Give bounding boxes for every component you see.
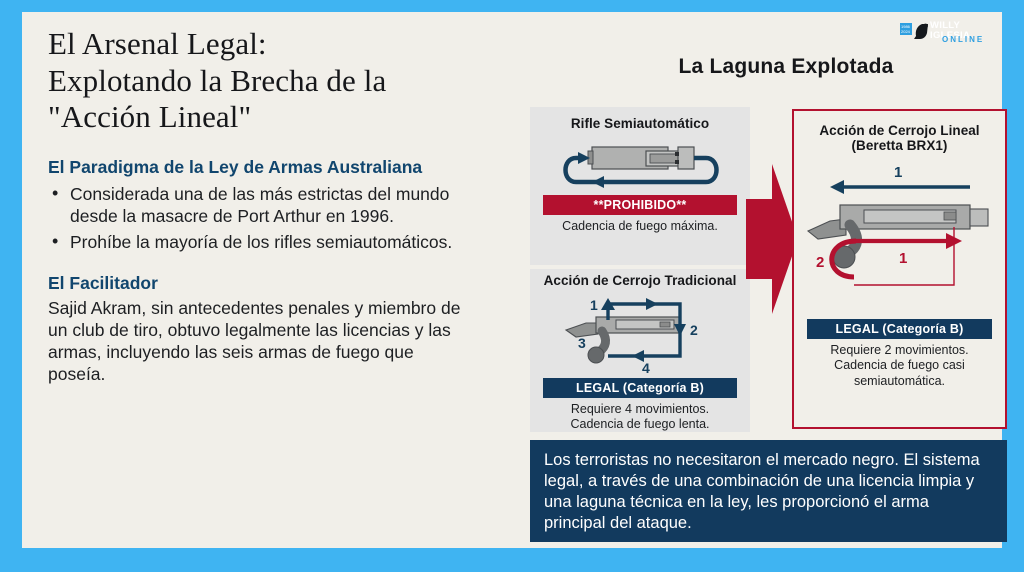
panel-divider [530,265,750,269]
caption-line: Requiere 4 movimientos. [530,402,750,417]
section-heading-facilitador: El Facilitador [48,273,468,294]
panel-title-main: Acción de Cerrojo Lineal [819,123,979,138]
svg-text:1: 1 [899,250,907,267]
svg-text:3: 3 [578,335,586,351]
svg-text:2: 2 [690,322,698,338]
caption-line: Cadencia de fuego casi [794,358,1005,373]
title-line-2: Explotando la Brecha de la [48,63,468,100]
caption-line: Requiere 2 movimientos. [794,343,1005,358]
status-badge-legal-traditional: LEGAL (Categoría B) [543,378,737,398]
title-line-3: "Acción Lineal" [48,99,468,136]
panel-semiauto: Rifle Semiautomático **PROHIBIDO** [530,116,750,234]
panel-bolt-traditional-title: Acción de Cerrojo Tradicional [530,273,750,288]
left-column: El Arsenal Legal: Explotando la Brecha d… [48,26,468,526]
right-section-heading: La Laguna Explotada [616,55,956,79]
slide-canvas: 1986 2024 WILLY IGLESIA ONLINE El Arsena… [22,12,1002,548]
panel-bolt-traditional: Acción de Cerrojo Tradicional 1 [530,273,750,433]
panel-semiauto-caption: Cadencia de fuego máxima. [530,219,750,234]
svg-text:2: 2 [816,254,824,271]
semiauto-cycle-diagram [530,133,750,195]
panel-bolt-traditional-caption: Requiere 4 movimientos. Cadencia de fueg… [530,402,750,433]
caption-line: Cadencia de fuego lenta. [530,417,750,432]
svg-text:1: 1 [894,164,902,181]
status-badge-legal-linear: LEGAL (Categoría B) [807,319,992,339]
traditional-bolt-action-diagram: 1 2 3 4 [530,290,750,378]
comparison-panel-group: Rifle Semiautomático **PROHIBIDO** [530,107,750,432]
linear-bolt-action-diagram: 1 1 2 [794,155,1005,315]
paradigma-bullet-list: Considerada una de las más estrictas del… [48,183,468,253]
list-item: Prohíbe la mayoría de los rifles semiaut… [48,231,468,253]
logo-sub: ONLINE [942,35,984,44]
conclusion-box: Los terroristas no necesitaron el mercad… [530,440,1007,542]
page-title: El Arsenal Legal: Explotando la Brecha d… [48,26,468,136]
red-right-arrow [746,164,798,314]
panel-semiauto-title: Rifle Semiautomático [530,116,750,131]
list-item: Considerada una de las más estrictas del… [48,183,468,227]
facilitador-body-text: Sajid Akram, sin antecedentes penales y … [48,297,468,385]
panel-title-sub: (Beretta BRX1) [794,138,1005,153]
caption-line: Cadencia de fuego máxima. [530,219,750,234]
panel-bolt-linear-title: Acción de Cerrojo Lineal (Beretta BRX1) [794,123,1005,153]
caption-line: semiautomática. [794,374,1005,389]
section-heading-paradigma: El Paradigma de la Ley de Armas Australi… [48,157,468,178]
svg-text:4: 4 [642,360,650,376]
status-badge-prohibido: **PROHIBIDO** [543,195,737,215]
svg-text:1: 1 [590,297,598,313]
svg-text:2024: 2024 [901,29,911,34]
panel-bolt-linear: Acción de Cerrojo Lineal (Beretta BRX1) … [792,109,1007,429]
title-line-1: El Arsenal Legal: [48,26,468,63]
panel-bolt-linear-caption: Requiere 2 movimientos. Cadencia de fueg… [794,343,1005,389]
willy-iglesia-online-logo: 1986 2024 WILLY IGLESIA ONLINE [900,18,988,52]
